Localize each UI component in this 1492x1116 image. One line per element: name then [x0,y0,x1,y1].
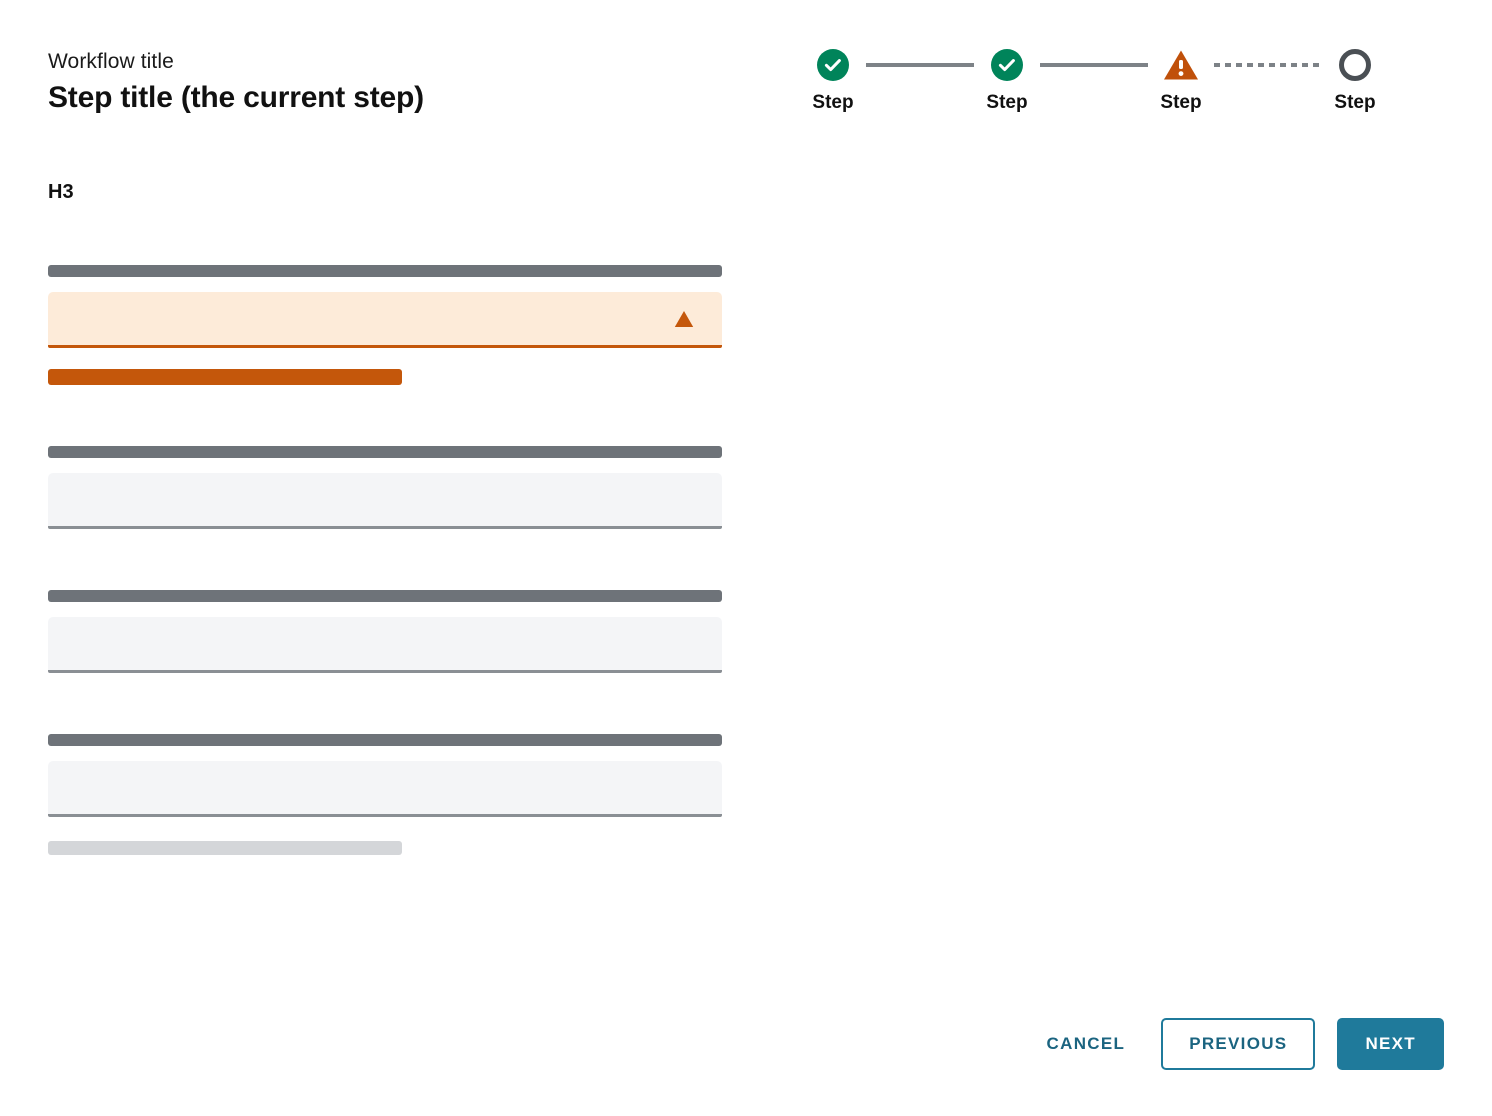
warning-triangle-icon [1163,49,1199,81]
stepper-step-2[interactable]: Step [980,44,1034,116]
form-field-1 [48,265,722,385]
text-input[interactable] [48,617,722,673]
form-body [48,265,722,855]
field-label-placeholder [48,446,722,458]
stepper-connector-2 [1034,44,1154,86]
page-header: Workflow title Step title (the current s… [48,48,424,118]
stepper-step-label: Step [986,90,1027,116]
page-title: Step title (the current step) [48,78,424,118]
stepper-connector-1 [860,44,980,86]
stepper-step-label: Step [1160,90,1201,116]
cancel-button[interactable]: CANCEL [1029,1022,1144,1066]
previous-button[interactable]: PREVIOUS [1161,1018,1315,1070]
section-heading: H3 [48,178,74,206]
text-input[interactable] [48,761,722,817]
stepper-step-4[interactable]: Step [1328,44,1382,116]
field-label-placeholder [48,590,722,602]
stepper-step-label: Step [812,90,853,116]
form-field-4 [48,734,722,855]
stepper-step-label: Step [1334,90,1375,116]
workflow-stepper: Step Step [806,44,1382,116]
check-circle-icon [817,49,849,81]
empty-circle-icon [1339,49,1371,81]
text-input[interactable] [48,473,722,529]
warning-triangle-icon [674,310,694,328]
stepper-connector-3 [1208,44,1328,86]
stepper-step-3[interactable]: Step [1154,44,1208,116]
stepper-step-1[interactable]: Step [806,44,860,116]
check-circle-icon [991,49,1023,81]
field-label-placeholder [48,734,722,746]
field-label-placeholder [48,265,722,277]
form-field-2 [48,446,722,529]
field-error-message-placeholder [48,369,402,385]
workflow-title: Workflow title [48,48,424,76]
form-actions: CANCEL PREVIOUS NEXT [1029,1018,1444,1070]
text-input-error[interactable] [48,292,722,348]
workflow-step-page: Workflow title Step title (the current s… [0,0,1492,1116]
form-field-3 [48,590,722,673]
next-button[interactable]: NEXT [1337,1018,1444,1070]
field-helper-text-placeholder [48,841,402,855]
